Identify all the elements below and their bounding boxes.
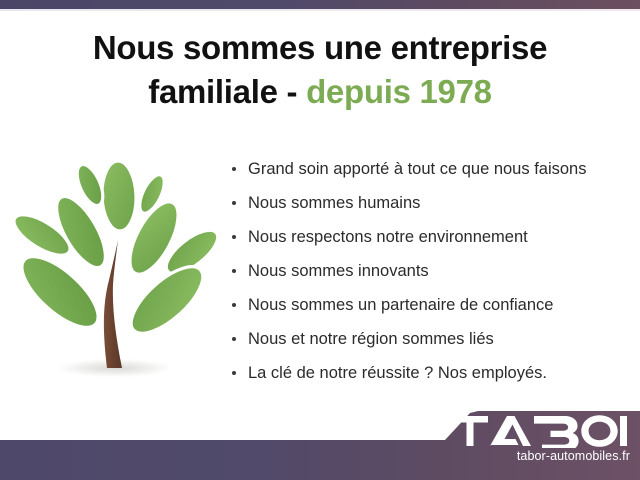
list-item-label: Nous respectons notre environnement [248,228,528,246]
bullet-dot-icon [232,303,236,307]
list-item-label: La clé de notre réussite ? Nos employés. [248,364,547,382]
list-item: Nous respectons notre environnement [230,220,630,254]
page-title-line-2: familiale - depuis 1978 [0,70,640,114]
tree-illustration [12,140,227,390]
list-item-label: Nous sommes innovants [248,262,429,280]
slide-canvas: Nous sommes une entreprise familiale - d… [0,0,640,480]
page-title-line-2-black: familiale - [148,73,297,110]
bullet-dot-icon [232,201,236,205]
list-item-label: Nous sommes humains [248,194,420,212]
tabor-wordmark-icon [452,414,628,448]
bullet-dot-icon [232,235,236,239]
bullet-dot-icon [232,337,236,341]
list-item: Nous sommes un partenaire de confiance [230,288,630,322]
top-accent-bar [0,0,640,9]
tree-icon [12,140,227,390]
list-item: Nous sommes innovants [230,254,630,288]
brand-logo[interactable]: tabor-automobiles.fr [452,414,632,463]
list-item-label: Nous et notre région sommes liés [248,330,494,348]
top-accent-hairline [0,9,640,11]
bullet-dot-icon [232,167,236,171]
list-item: Nous et notre région sommes liés [230,322,630,356]
list-item-label: Nous sommes un partenaire de confiance [248,296,553,314]
list-item: Grand soin apporté à tout ce que nous fa… [230,152,630,186]
value-proposition-list: Grand soin apporté à tout ce que nous fa… [230,152,630,390]
list-item: Nous sommes humains [230,186,630,220]
list-item-label: Grand soin apporté à tout ce que nous fa… [248,160,586,178]
bullet-dot-icon [232,269,236,273]
bullet-dot-icon [232,371,236,375]
page-title-highlight-year: depuis 1978 [306,73,492,110]
page-title-line-1: Nous sommes une entreprise [93,29,547,66]
tree-leaf-group [12,160,224,344]
brand-url[interactable]: tabor-automobiles.fr [452,449,630,463]
tree-leaf [101,160,137,231]
list-item: La clé de notre réussite ? Nos employés. [230,356,630,390]
page-title: Nous sommes une entreprise familiale - d… [0,26,640,114]
